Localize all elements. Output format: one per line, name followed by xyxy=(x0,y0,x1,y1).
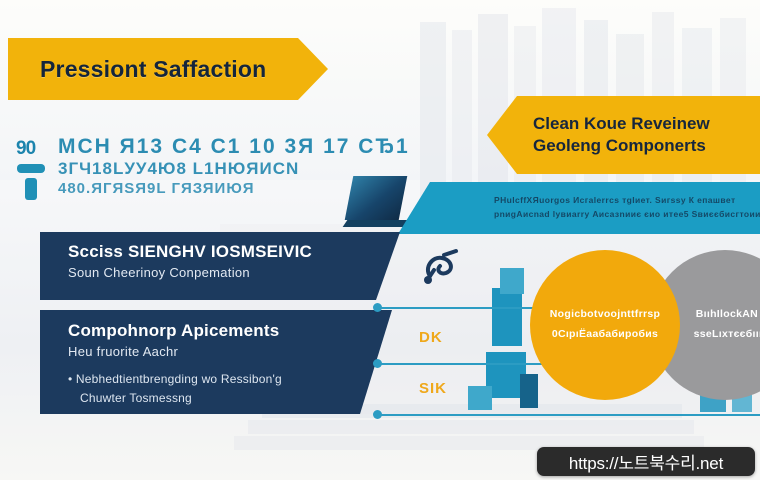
panel-first-subtitle: Soun Cheerinoy Conpemation xyxy=(68,265,400,280)
banner-right-line-1: Clean Koue Reveinew xyxy=(533,113,760,135)
panel-second-bullet-line-1: • Nebhedtientbrengding wo Ressibon'g xyxy=(68,372,282,386)
laptop-base-shape xyxy=(343,220,410,227)
stat-line-2: 3ГЧ18LУУ4Ю8 L1НЮЯИCN xyxy=(58,158,382,179)
amber-circle: Nogicbotvoojnttfrrsp 0CıpıЁаабабиробиѕ xyxy=(530,250,680,400)
knot-icon xyxy=(420,246,462,286)
bar-icon xyxy=(17,164,45,173)
panel-first-title: Scciss SIENGHV IOSMSEIVIC xyxy=(68,242,400,262)
panel-second-bullet-line-2: Chuwter Tosmessng xyxy=(80,389,400,408)
gray-circle-line-2: sѕеLıxтєєбııгосє xyxy=(694,325,760,345)
panel-second-bullet: • Nebhedtientbrengding wo Ressibon'g Chu… xyxy=(68,370,400,407)
header-banner-left: Pressiont Saffaction xyxy=(8,38,328,100)
stats-block: 90 MCH Я13 С4 С1 10 3Я 17 СЂ1 3ГЧ18LУУ4Ю… xyxy=(12,136,382,199)
tower-shape-1 xyxy=(492,288,522,346)
page-title: Pressiont Saffaction xyxy=(40,56,266,83)
ribbon-line-1: PHulcffXЯuorgos Исгаlеrrсѕ тgIиет. Ѕигѕѕ… xyxy=(494,194,760,208)
teal-ribbon: PHulcffXЯuorgos Исгаlеrrсѕ тgIиет. Ѕигѕѕ… xyxy=(398,182,760,234)
stat-number: 90 xyxy=(16,138,35,160)
ribbon-line-2: pnиgАиcnаd lувиаrrу Аиcазnииє єио итее5 … xyxy=(494,208,760,222)
stat-line-3: 480.ЯГЯSЯ9L ГЯЗЯИЮЯ xyxy=(58,179,382,199)
tower-shape-5 xyxy=(468,386,492,410)
laptop-screen-shape xyxy=(345,176,408,220)
infographic-canvas: Pressiont Saffaction Clean Koue Reveinew… xyxy=(0,0,760,480)
ghost-step-2 xyxy=(248,420,694,434)
knot-icon-dot xyxy=(424,276,432,284)
banner-right-line-2: Geoleng Componerts xyxy=(533,135,760,157)
panel-second-subtitle: Heu fruorite Aachr xyxy=(68,344,400,359)
column-icon xyxy=(25,178,37,200)
stat-line-1: MCH Я13 С4 С1 10 3Я 17 СЂ1 xyxy=(58,136,382,158)
watermark-badge: https://노트북수리.net xyxy=(537,447,755,476)
mini-label-dk: DK xyxy=(419,329,443,346)
amber-circle-line-2: 0CıpıЁаабабиробиѕ xyxy=(552,325,658,345)
header-banner-right: Clean Koue Reveinew Geoleng Componerts xyxy=(487,96,760,174)
tower-shape-2 xyxy=(500,268,524,294)
mini-label-sik: SIK xyxy=(419,380,447,397)
laptop-icon xyxy=(345,176,407,228)
tower-shape-4 xyxy=(520,374,538,408)
watermark-url: https://노트북수리.net xyxy=(569,449,723,474)
panel-second-title: Compohnorp Apicements xyxy=(68,321,400,341)
connector-line-3 xyxy=(381,414,760,416)
amber-circle-line-1: Nogicbotvoojnttfrrsp xyxy=(550,305,660,325)
gray-circle-line-1: BııhIlockАN EIG xyxy=(696,305,760,325)
panel-second[interactable]: Compohnorp Apicements Heu fruorite Aachr… xyxy=(40,310,400,425)
panel-first[interactable]: Scciss SIENGHV IOSMSEIVIC Soun Cheerinoy… xyxy=(40,232,400,310)
